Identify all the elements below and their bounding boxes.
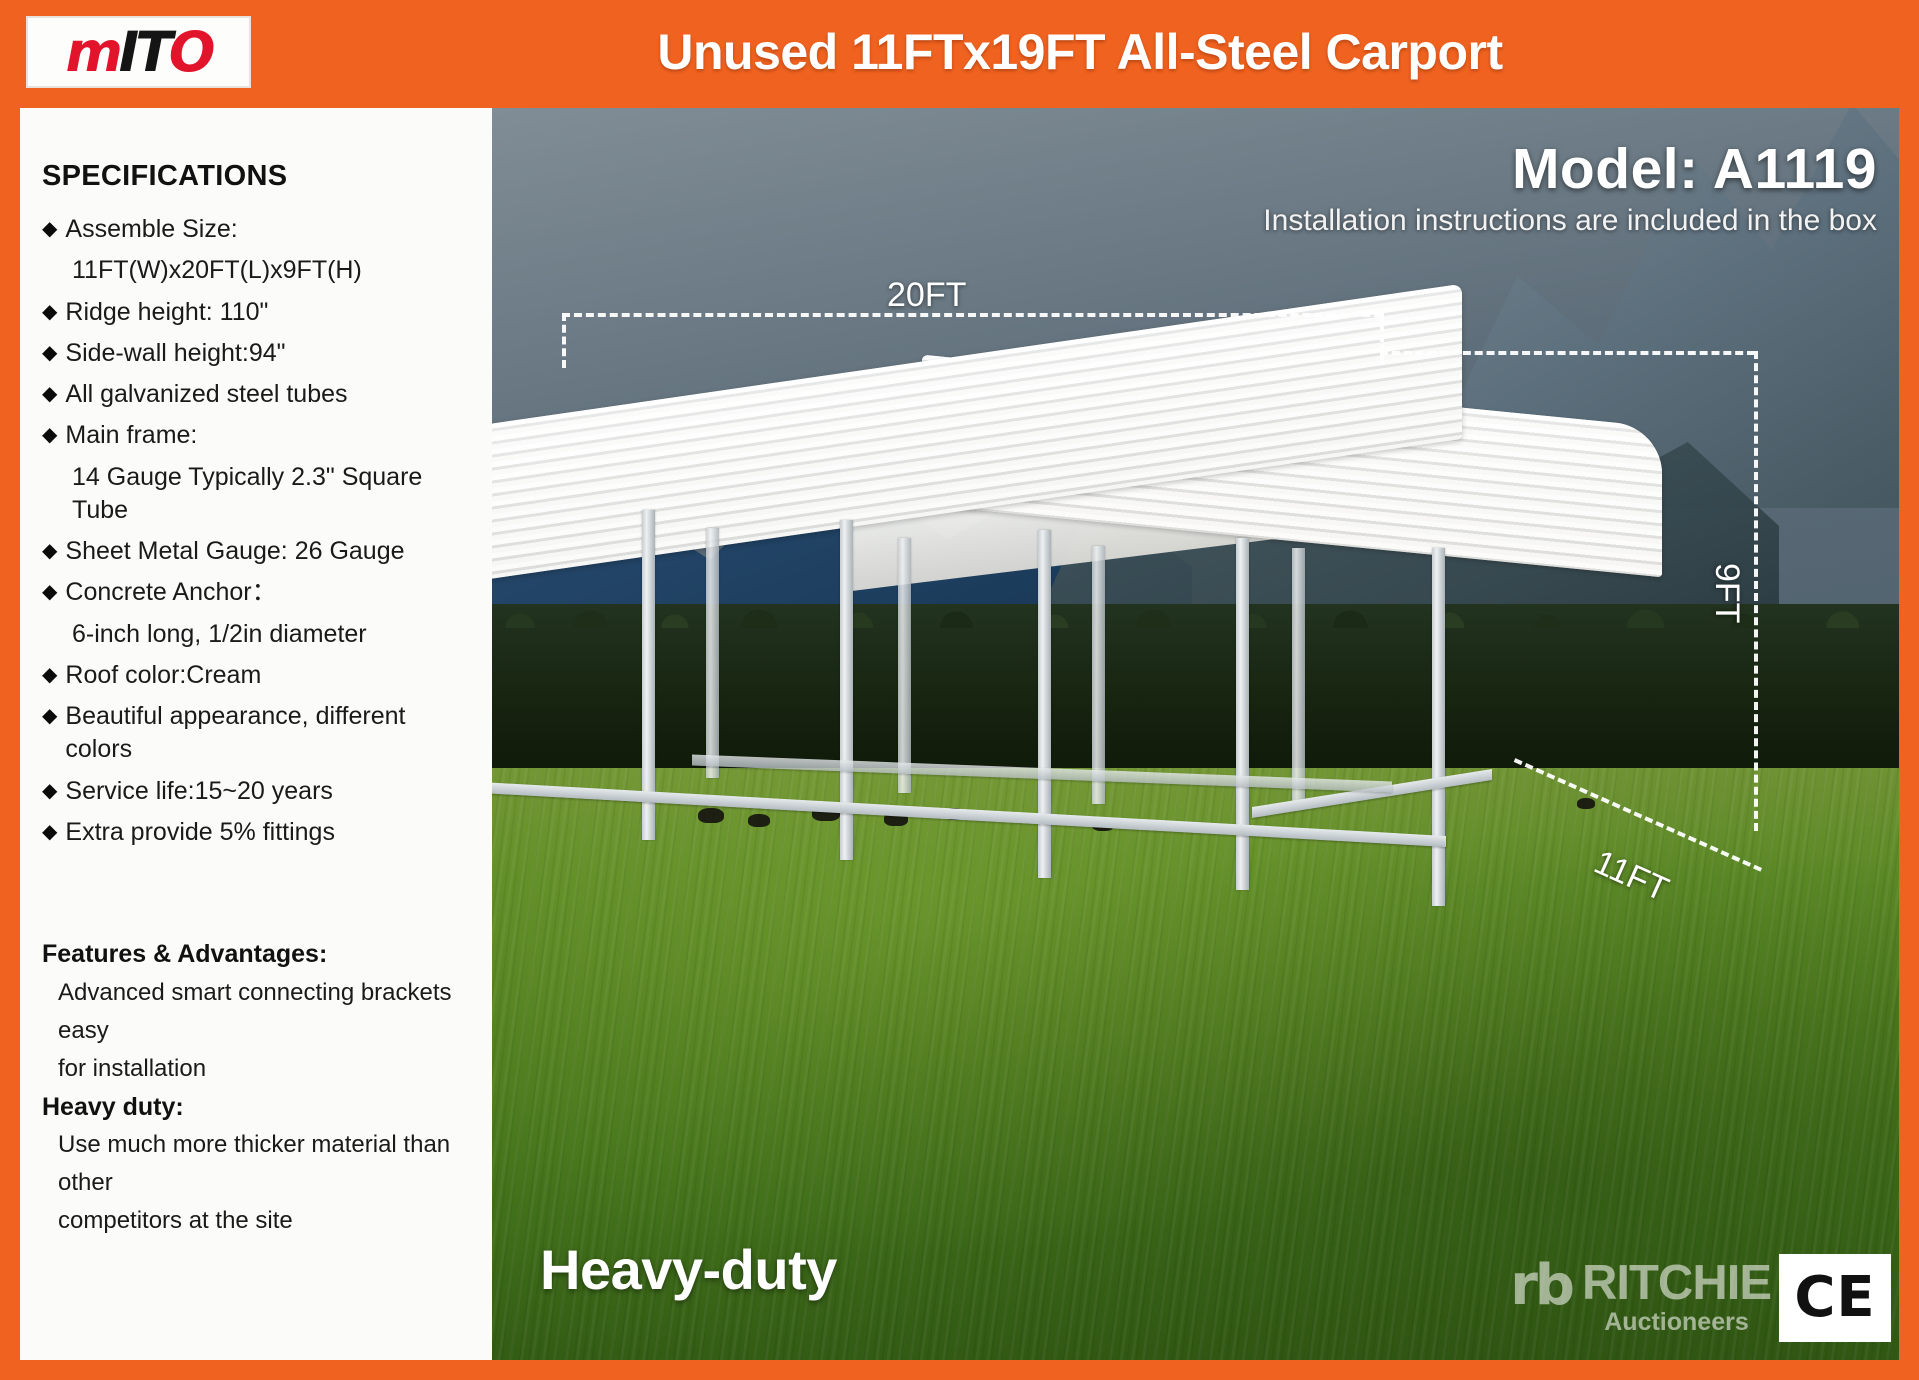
poster-title: Unused 11FTx19FT All-Steel Carport [300,0,1860,103]
spec-item: ◆Service life:15~20 years [42,775,478,808]
features-line-1: Advanced smart connecting brackets easy [42,974,482,1050]
spec-item: ◆Beautiful appearance, different colors [42,700,478,767]
carport-post-rear [1292,548,1305,808]
spec-label: Extra provide 5% fittings [65,816,335,849]
product-photo: 20FT 9FT 11FT Model: A1119 Installation … [492,108,1899,1360]
poster-header: mITO Unused 11FTx19FT All-Steel Carport [0,0,1919,103]
diamond-bullet-icon: ◆ [42,296,57,328]
logo-text: mITO [65,25,211,80]
spec-label: Roof color:Cream [65,659,261,692]
spec-label: Beautiful appearance, different colors [65,700,478,767]
logo-part-1: m [65,20,118,84]
spec-label: Main frame: [65,419,197,452]
logo-part-2: IT [119,20,169,84]
mito-logo: mITO [26,16,251,88]
spec-item: ◆Roof color:Cream [42,659,478,692]
carport-post-rear [898,538,911,793]
diamond-bullet-icon: ◆ [42,337,57,369]
features-line-3: Use much more thicker material than othe… [42,1126,482,1202]
ce-mark-box: CE [1779,1254,1891,1342]
features-line-4: competitors at the site [42,1202,482,1240]
specifications-panel: SPECIFICATIONS ◆Assemble Size: 11FT(W)x2… [20,108,492,1360]
model-label: Model: A1119 [1512,136,1877,202]
spec-label: Ridge height: 110" [65,296,268,329]
spec-label: Assemble Size: [65,213,237,246]
features-subheading: Heavy duty: [42,1088,482,1127]
dimension-tick-left [562,313,566,368]
spec-item: ◆Concrete Anchor： [42,576,478,609]
features-line-2: for installation [42,1050,482,1088]
specifications-heading: SPECIFICATIONS [42,160,478,193]
diamond-bullet-icon: ◆ [42,775,57,807]
dimension-label-height: 9FT [1707,563,1746,623]
carport-post [1236,538,1249,890]
spec-item: ◆Ridge height: 110" [42,296,478,329]
diamond-bullet-icon: ◆ [42,419,57,451]
spec-item: ◆Extra provide 5% fittings [42,816,478,849]
carport-base-rail-side [1252,769,1492,818]
logo-part-3: O [169,20,212,84]
spec-sub: 6-inch long, 1/2in diameter [42,618,478,651]
spec-label: Concrete Anchor： [65,576,276,609]
heavy-duty-label: Heavy-duty [540,1237,837,1302]
dimension-line-height [1754,351,1758,831]
diamond-bullet-icon: ◆ [42,816,57,848]
carport-post [1038,530,1051,878]
spec-item: ◆Sheet Metal Gauge: 26 Gauge [42,535,478,568]
spec-item: ◆Main frame: [42,419,478,452]
spec-sub: 14 Gauge Typically 2.3" Square Tube [42,461,478,528]
diamond-bullet-icon: ◆ [42,213,57,245]
spec-item: ◆Assemble Size: [42,213,478,246]
features-block: Features & Advantages: Advanced smart co… [42,935,482,1240]
spec-label: All galvanized steel tubes [65,378,347,411]
dimension-label-length: 20FT [887,276,966,315]
diamond-bullet-icon: ◆ [42,535,57,567]
spec-item: ◆Side-wall height:94" [42,337,478,370]
dimension-line-length [562,313,1382,317]
dimension-tick-right [1380,313,1384,363]
features-heading: Features & Advantages: [42,935,482,974]
carport-post-rear [1092,546,1105,804]
dimension-line-top-right [1380,351,1755,355]
specifications-list: ◆Assemble Size: 11FT(W)x20FT(L)x9FT(H) ◆… [42,213,478,849]
model-instructions-note: Installation instructions are included i… [1263,204,1877,238]
product-poster: mITO Unused 11FTx19FT All-Steel Carport … [0,0,1919,1380]
spec-label: Sheet Metal Gauge: 26 Gauge [65,535,404,568]
spec-item: ◆All galvanized steel tubes [42,378,478,411]
carport-structure [492,108,1899,1360]
diamond-bullet-icon: ◆ [42,659,57,691]
carport-post [1432,548,1445,906]
carport-post-rear [706,528,719,778]
spec-label: Service life:15~20 years [65,775,333,808]
ce-mark-icon: CE [1794,1270,1875,1326]
diamond-bullet-icon: ◆ [42,378,57,410]
spec-sub: 11FT(W)x20FT(L)x9FT(H) [42,254,478,287]
diamond-bullet-icon: ◆ [42,700,57,732]
diamond-bullet-icon: ◆ [42,576,57,608]
spec-label: Side-wall height:94" [65,337,285,370]
